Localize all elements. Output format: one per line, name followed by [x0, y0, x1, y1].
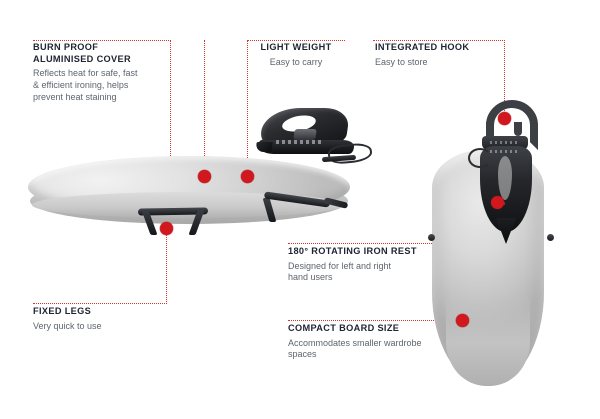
callout-burn-proof-aluminised-cover: BURN PROOFALUMINISED COVER Reflects heat…: [33, 42, 169, 103]
marker-dot-iron-rest[interactable]: [491, 196, 504, 209]
callout-light-weight: LIGHT WEIGHT Easy to carry: [249, 42, 343, 68]
board-hinge-right: [547, 234, 554, 241]
callout-body-integrated-hook: Easy to store: [375, 57, 503, 69]
callout-rotating-iron-rest: 180° ROTATING IRON REST Designed for lef…: [288, 246, 448, 284]
hook-stem: [514, 122, 522, 136]
steam-iron-horizontal: [256, 104, 360, 166]
rotating-iron-rest-bracket: [322, 144, 368, 166]
connector-light-weight-top-rule: [247, 40, 345, 41]
marker-dot-fixed-legs[interactable]: [160, 222, 173, 235]
marker-dot-aluminised-cover[interactable]: [198, 170, 211, 183]
iron-brand-label: [276, 140, 323, 144]
callout-title-rotating-iron-rest: 180° ROTATING IRON REST: [288, 246, 448, 258]
callout-title-burn-proof: BURN PROOFALUMINISED COVER: [33, 42, 169, 65]
callout-body-compact-board-size: Accommodates smaller wardrobespaces: [288, 338, 460, 362]
callout-title-integrated-hook: INTEGRATED HOOK: [375, 42, 503, 54]
connector-fixed-legs-rule: [33, 303, 167, 304]
callout-integrated-hook: INTEGRATED HOOK Easy to store: [375, 42, 503, 68]
callout-body-light-weight: Easy to carry: [249, 57, 343, 69]
vertical-iron-tip: [496, 218, 516, 244]
board-front-legs: [146, 210, 200, 236]
callout-body-rotating-iron-rest: Designed for left and righthand users: [288, 261, 448, 285]
callout-fixed-legs: FIXED LEGS Very quick to use: [33, 306, 167, 332]
iron-tip: [255, 142, 272, 152]
marker-dot-light-weight[interactable]: [241, 170, 254, 183]
callout-body-burn-proof: Reflects heat for safe, fast& efficient …: [33, 68, 169, 103]
vertical-iron-cord: [468, 148, 492, 168]
iron-temperature-dial: [293, 129, 317, 140]
board-hinge-left: [428, 234, 435, 241]
marker-dot-integrated-hook[interactable]: [498, 112, 511, 125]
callout-compact-board-size: COMPACT BOARD SIZE Accommodates smaller …: [288, 323, 460, 361]
steam-iron-vertical: [478, 146, 534, 246]
callout-title-fixed-legs: FIXED LEGS: [33, 306, 167, 318]
callout-title-compact-board-size: COMPACT BOARD SIZE: [288, 323, 460, 335]
callout-body-fixed-legs: Very quick to use: [33, 321, 167, 333]
infographic-canvas: BURN PROOFALUMINISED COVER Reflects heat…: [0, 0, 600, 419]
callout-title-light-weight: LIGHT WEIGHT: [249, 42, 343, 54]
connector-integrated-hook-top-rule: [373, 40, 505, 41]
vertical-iron-branding: [490, 150, 520, 153]
hook-base-branding: [490, 141, 520, 144]
connector-burn-proof-top-rule: [33, 40, 171, 41]
integrated-hook: [482, 100, 528, 150]
